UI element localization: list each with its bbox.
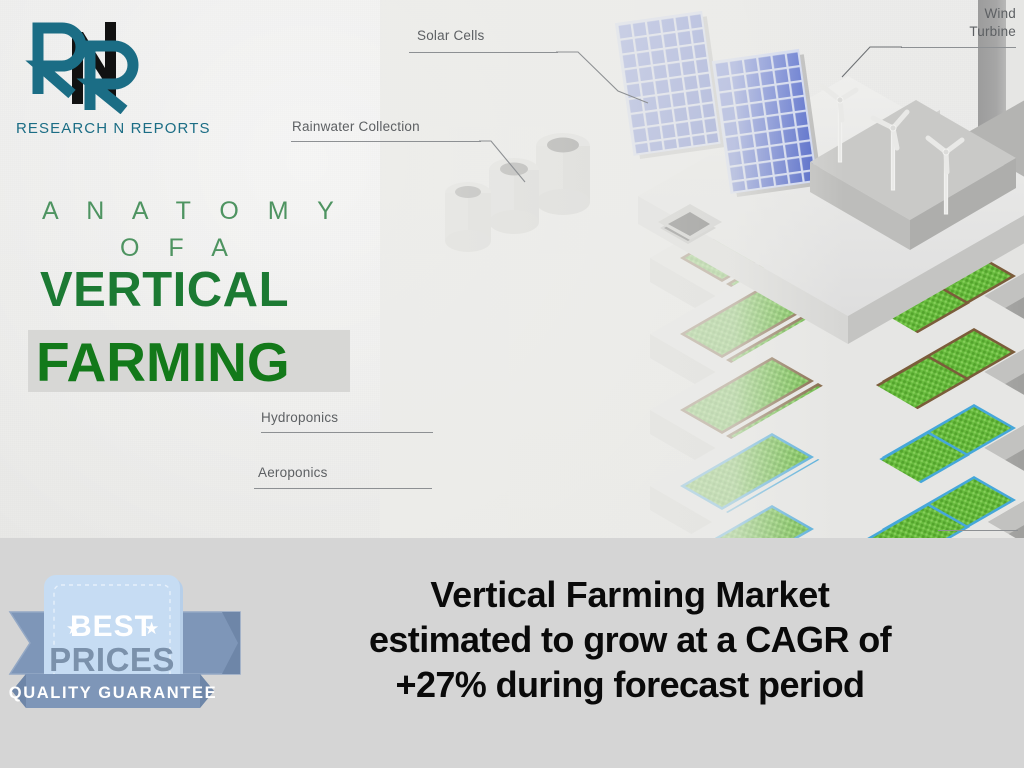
callout-label-wind-turbine-l1: Wind <box>940 6 1016 21</box>
title-anatomy: A N A T O M Y <box>42 197 345 226</box>
callout-label-hydroponics: Hydroponics <box>261 410 338 425</box>
callout-leader-wind-turbine <box>842 47 912 95</box>
infographic-panel: RESEARCH N REPORTS A N A T O M Y O F A V… <box>0 0 1024 538</box>
star-right-icon: ★ <box>144 619 159 638</box>
callout-rule-solar-cells <box>409 52 558 53</box>
headline-line-2: estimated to grow at a CAGR of <box>258 617 1002 662</box>
callout-rule-wind-turbine <box>901 47 1016 48</box>
poster-canvas: RESEARCH N REPORTS A N A T O M Y O F A V… <box>0 0 1024 768</box>
star-left-icon: ★ <box>66 619 81 638</box>
vertical-farm-illustration <box>380 0 1024 538</box>
callout-leader-rainwater <box>479 140 549 196</box>
callout-label-solar-cells: Solar Cells <box>417 28 484 43</box>
headline-line-3: +27% during forecast period <box>258 662 1002 707</box>
callout-rule-hydroponics <box>261 432 433 433</box>
headline-line-1: Vertical Farming Market <box>258 572 1002 617</box>
best-prices-badge: BEST ★ ★ PRICES QUALITY GUARANTEE <box>0 556 260 716</box>
title-of-a: O F A <box>120 234 239 263</box>
badge-guarantee-text: QUALITY GUARANTEE <box>9 684 217 702</box>
logo-wordmark: RESEARCH N REPORTS <box>16 120 211 137</box>
brand-logo[interactable]: RESEARCH N REPORTS <box>10 14 200 144</box>
badge-prices-text: PRICES <box>49 641 175 678</box>
callout-label-aeroponics: Aeroponics <box>258 465 328 480</box>
badge-best-text: BEST <box>70 610 154 643</box>
callout-leader-solar-cells <box>556 51 666 121</box>
title-farming: FARMING <box>36 330 290 394</box>
callout-label-rainwater: Rainwater Collection <box>292 119 420 134</box>
callout-label-wind-turbine-l2: Turbine <box>930 24 1016 39</box>
callout-rule-edge-stub <box>938 530 1018 531</box>
title-vertical: VERTICAL <box>40 262 289 318</box>
callout-rule-aeroponics <box>254 488 432 489</box>
callout-rule-rainwater <box>291 141 481 142</box>
headline: Vertical Farming Market estimated to gro… <box>258 572 1002 707</box>
badge-bottom-ribbon: QUALITY GUARANTEE <box>9 674 217 708</box>
